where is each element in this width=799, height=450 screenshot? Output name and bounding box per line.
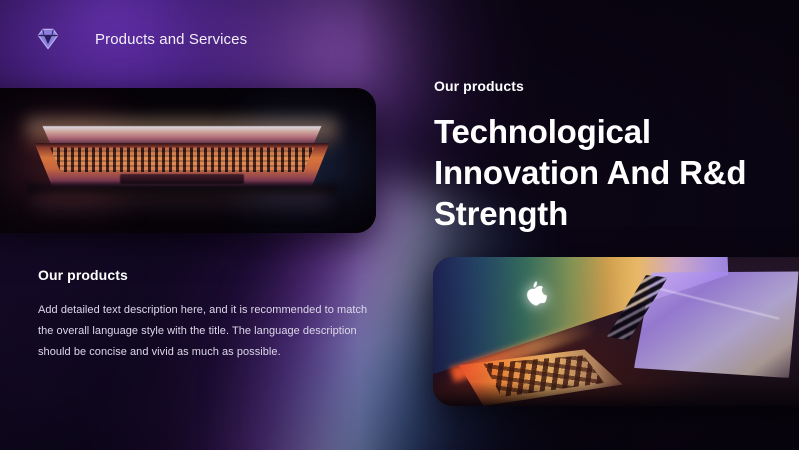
bottom-shadow [433, 382, 799, 406]
left-body-paragraph: Add detailed text description here, and … [38, 300, 373, 363]
laptop-open-warm-keyboard-image [0, 88, 376, 233]
diamond-gem-icon[interactable] [28, 19, 68, 59]
trackpad [120, 174, 244, 184]
left-eyebrow-label: Our products [38, 266, 373, 284]
slide-canvas: Products and Services [0, 0, 799, 450]
laptop-artwork-b [433, 257, 799, 406]
left-text-block: Our products Add detailed text descripti… [38, 266, 373, 363]
laptop-lid [42, 126, 321, 145]
header-bar: Products and Services [0, 0, 799, 78]
right-text-block: Our products Technological Innovation An… [434, 78, 764, 234]
macbook-rainbow-lid-image [433, 257, 799, 406]
laptop-artwork-a [0, 88, 376, 233]
surface-reflection [35, 194, 330, 214]
keyboard-keys [50, 147, 314, 172]
header-title: Products and Services [95, 31, 247, 48]
right-eyebrow-label: Our products [434, 78, 764, 95]
page-title: Technological Innovation And R&d Strengt… [434, 111, 764, 234]
